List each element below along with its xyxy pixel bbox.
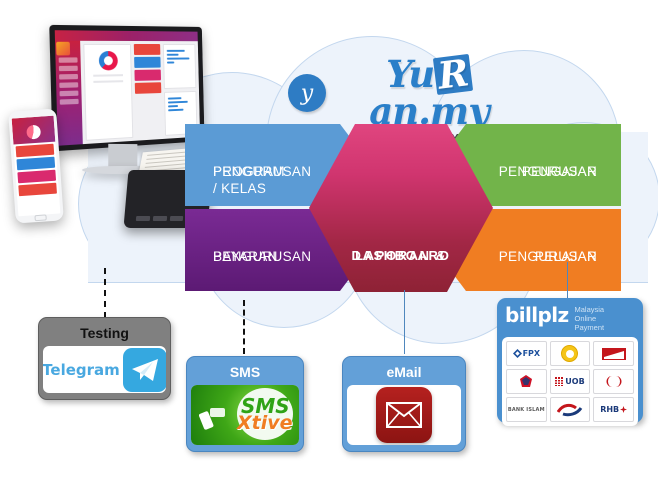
- bank-logo-fpx[interactable]: FPX: [506, 341, 547, 366]
- billplz-name: billplz: [505, 305, 569, 325]
- brand-logo: y YuRan.my Cara Mudah Urus Yuran: [288, 56, 528, 118]
- billplz-panel[interactable]: billplz Malaysia Online Payment FPX: [497, 298, 643, 423]
- channel-box-sms[interactable]: SMS SMS Xtive: [186, 356, 304, 452]
- channel-title-email: eMail: [347, 361, 461, 385]
- phone-icon: [199, 406, 229, 432]
- ambank-mark-icon: [518, 374, 534, 390]
- smsxtive-logo: SMS Xtive: [191, 385, 299, 445]
- maybank-mark-icon: [561, 345, 578, 362]
- bank-logo-bank-rakyat[interactable]: [550, 397, 591, 422]
- bank-logo-rhb[interactable]: RHB: [593, 397, 634, 422]
- fpx-mark-icon: [513, 349, 522, 358]
- smsxtive-sub: Xtive: [237, 412, 293, 434]
- channel-title-sms: SMS: [191, 361, 299, 385]
- uob-mark-icon: [555, 377, 563, 386]
- billplz-sub-line1: Malaysia: [575, 305, 605, 314]
- connector-sms: [243, 300, 245, 354]
- channel-body-sms: SMS Xtive: [191, 385, 299, 445]
- bank-logo-cimb-clicks[interactable]: [593, 369, 634, 394]
- telegram-label: Telegram: [43, 361, 120, 379]
- uob-label: UOB: [565, 377, 584, 386]
- channel-body-testing: Telegram: [43, 346, 166, 393]
- brand-mark-icon: y: [288, 74, 326, 112]
- bank-logo-ambank[interactable]: [506, 369, 547, 394]
- rhb-label: RHB: [600, 405, 619, 414]
- channel-box-testing[interactable]: Testing Telegram: [38, 317, 171, 400]
- brand-mark-letter: y: [288, 74, 326, 112]
- bank-logo-maybank[interactable]: [550, 341, 591, 366]
- connector-testing: [104, 268, 106, 318]
- connector-email: [404, 290, 405, 354]
- smartphone: [8, 108, 64, 223]
- bank-logo-bank-islam[interactable]: BANK ISLAM: [506, 397, 547, 422]
- panel-line2: BAYARAN: [213, 249, 278, 266]
- bank-logo-grid: FPX: [502, 337, 638, 426]
- connector-billplz: [567, 262, 568, 302]
- brand-name-boxed: R: [433, 54, 473, 95]
- channel-body-email: [347, 385, 461, 445]
- bank-logo-cimb[interactable]: [593, 341, 634, 366]
- desktop-monitor: [49, 25, 204, 152]
- bank-logo-uob[interactable]: UOB: [550, 369, 591, 394]
- bank-islam-label: BANK ISLAM: [508, 407, 545, 413]
- billplz-sub-line3: Payment: [575, 323, 605, 332]
- cimb-clicks-mark-icon: [604, 375, 624, 388]
- cimb-mark-icon: [602, 347, 626, 361]
- module-panels: PENGURUSAN PROGRAM / KELAS PENGURUSAN BA…: [185, 124, 621, 296]
- envelope-icon: [376, 387, 432, 443]
- fpx-label: FPX: [523, 349, 541, 358]
- brand-wordmark: YuRan.my: [330, 56, 528, 130]
- billplz-sub-line2: Online: [575, 314, 605, 323]
- panel-line2: PELAJAR: [535, 249, 597, 266]
- panel-line2: PROGRAM / KELAS: [213, 164, 285, 198]
- bank-rakyat-mark-icon: [557, 403, 583, 417]
- device-cluster: [0, 22, 215, 227]
- telegram-icon: [123, 348, 166, 392]
- billplz-subtitle: Malaysia Online Payment: [575, 305, 605, 332]
- infographic-canvas: y YuRan.my Cara Mudah Urus Yuran PENGURU…: [0, 0, 658, 483]
- billplz-header: billplz Malaysia Online Payment: [502, 303, 638, 337]
- panel-line2: PENGAJAR: [522, 164, 597, 181]
- channel-box-email[interactable]: eMail: [342, 356, 466, 452]
- channel-title-testing: Testing: [43, 322, 166, 346]
- rhb-star-icon: [620, 406, 627, 413]
